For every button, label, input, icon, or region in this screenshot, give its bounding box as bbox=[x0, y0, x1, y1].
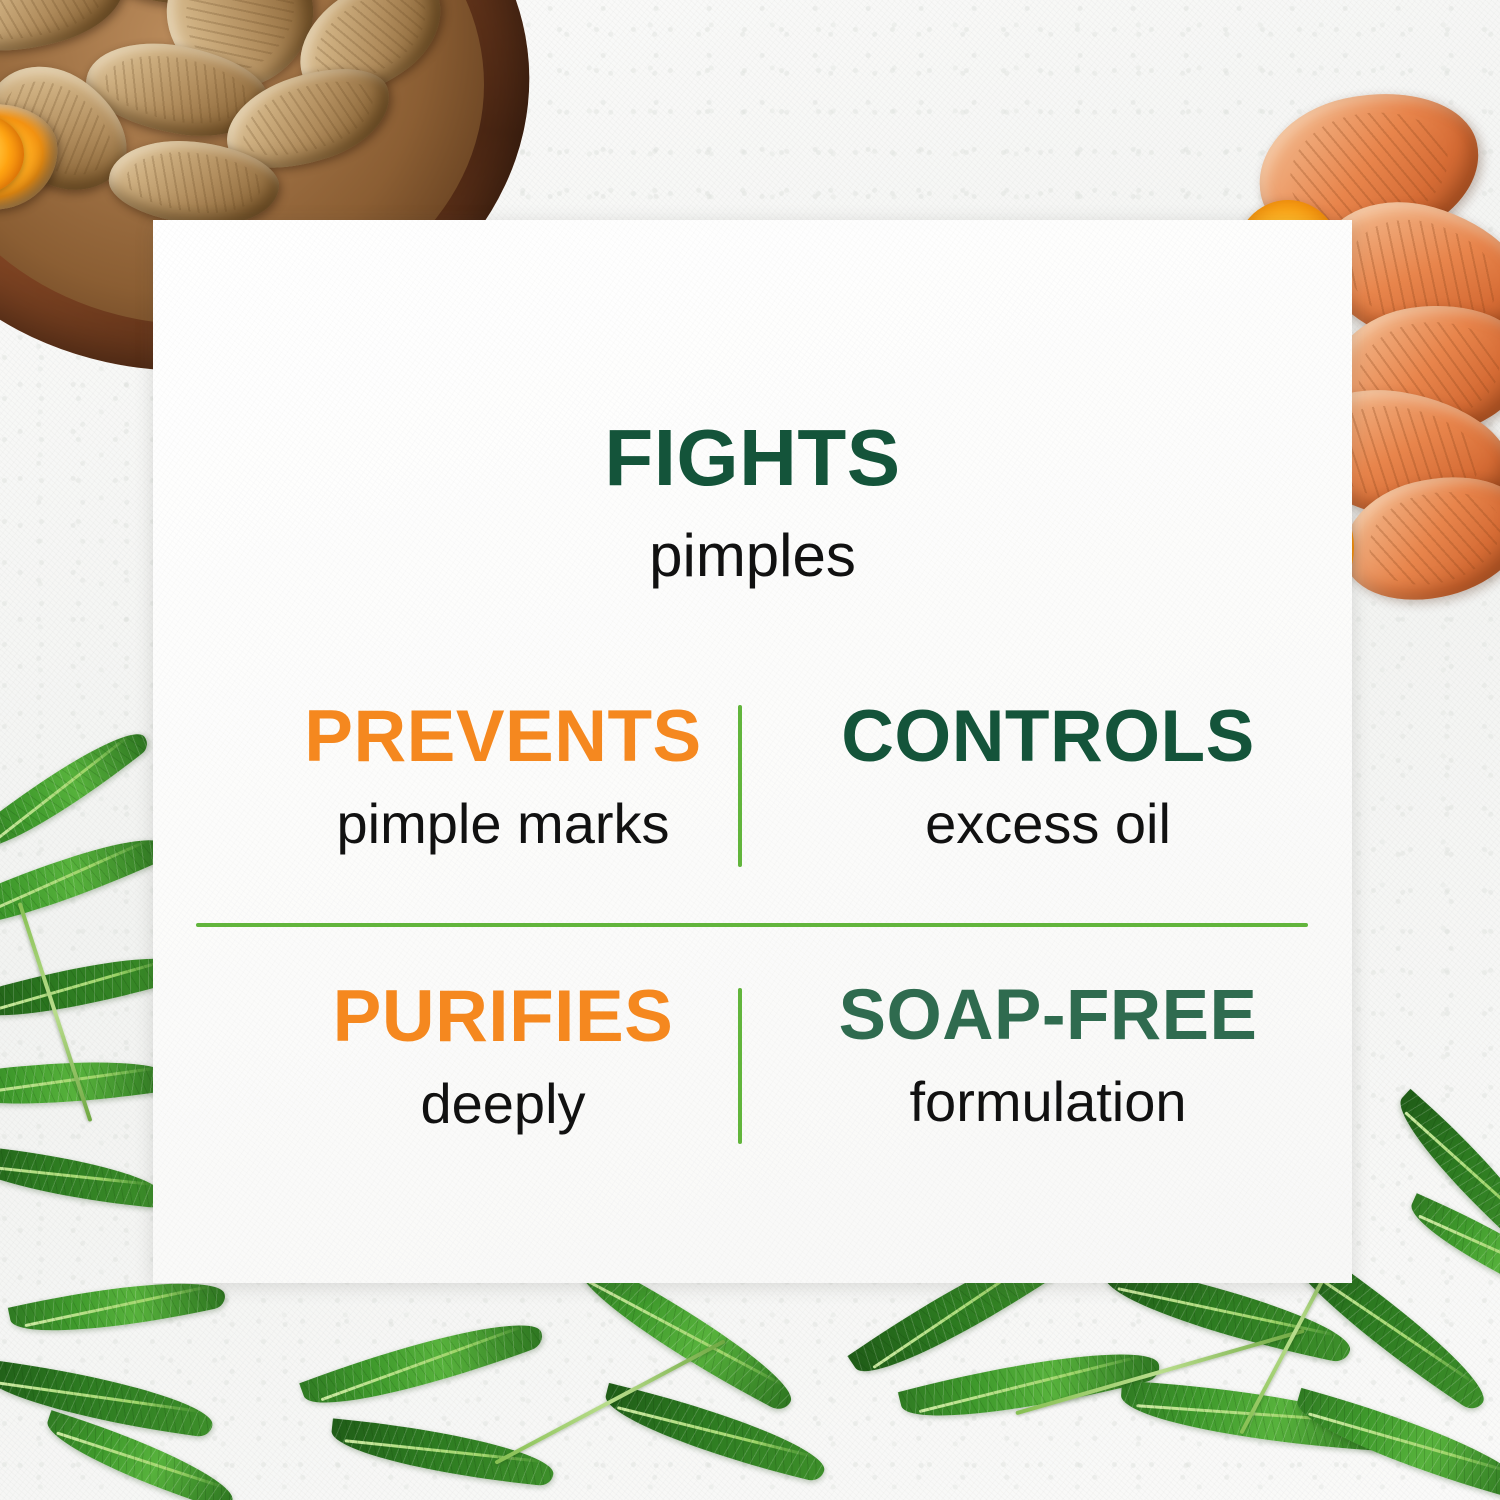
feature-subtitle: pimple marks bbox=[173, 795, 833, 854]
divider-vertical-bottom bbox=[738, 988, 742, 1144]
feature-subtitle: excess oil bbox=[753, 795, 1343, 854]
feature-subtitle: deeply bbox=[173, 1075, 833, 1134]
feature-title: SOAP-FREE bbox=[753, 980, 1343, 1051]
feature-soap-free: SOAP-FREE formulation bbox=[753, 980, 1343, 1132]
feature-title: CONTROLS bbox=[753, 700, 1343, 773]
divider-vertical-top bbox=[738, 705, 742, 867]
divider-horizontal bbox=[196, 923, 1308, 927]
feature-subtitle: formulation bbox=[753, 1073, 1343, 1132]
feature-fights: FIGHTS pimples bbox=[153, 418, 1352, 587]
feature-title: PURIFIES bbox=[173, 980, 833, 1053]
benefits-card: FIGHTS pimples PREVENTS pimple marks CON… bbox=[153, 220, 1352, 1283]
feature-controls: CONTROLS excess oil bbox=[753, 700, 1343, 854]
image-stage: FIGHTS pimples PREVENTS pimple marks CON… bbox=[0, 0, 1500, 1500]
feature-prevents: PREVENTS pimple marks bbox=[173, 700, 833, 854]
feature-title: FIGHTS bbox=[153, 418, 1352, 498]
feature-title: PREVENTS bbox=[173, 700, 833, 773]
feature-subtitle: pimples bbox=[153, 524, 1352, 587]
feature-purifies: PURIFIES deeply bbox=[173, 980, 833, 1134]
